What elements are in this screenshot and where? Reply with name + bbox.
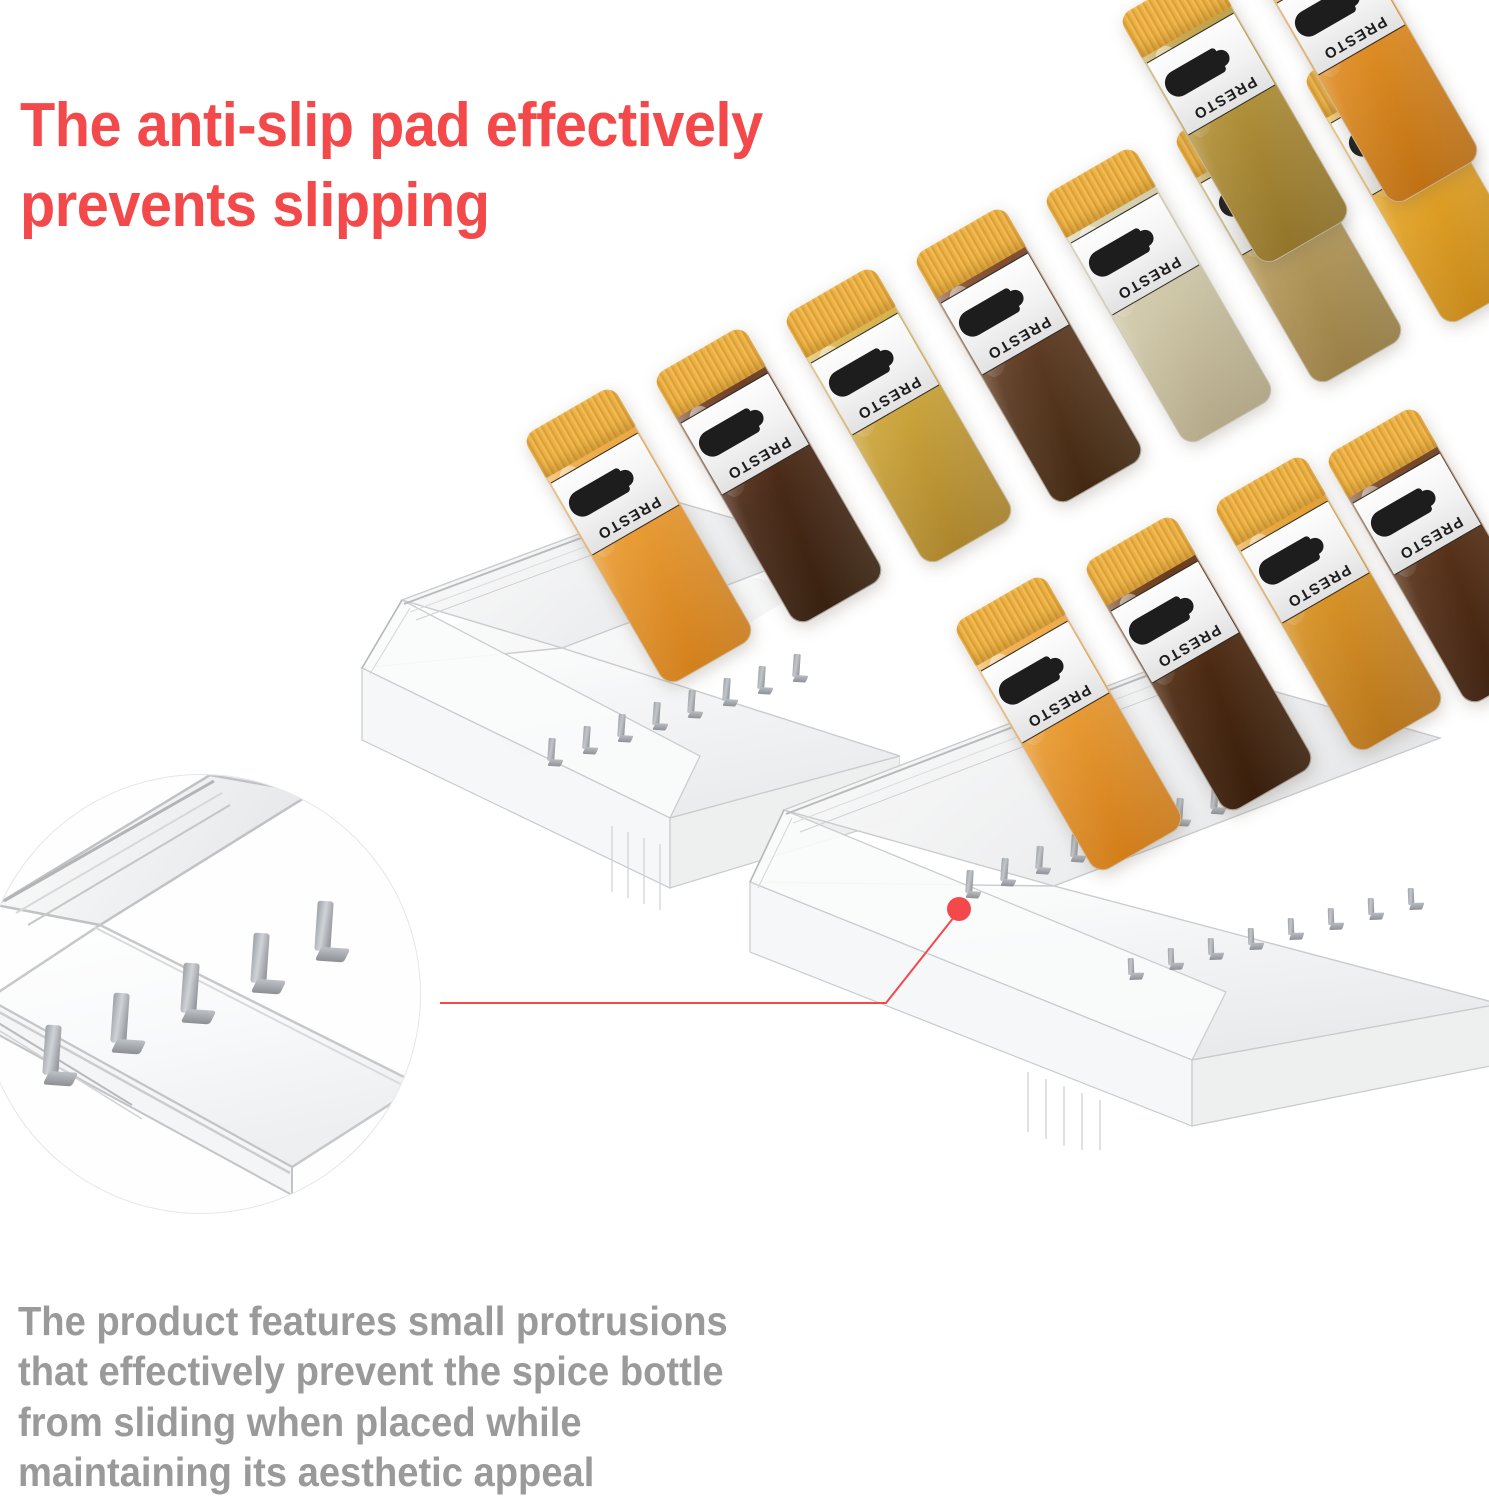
callout-dot [947,897,971,921]
page-caption: The product features small protrusions t… [18,1296,855,1498]
callout-leader-line [440,912,958,1003]
product-marketing-image: PRESTO PRESTO PRESTO [0,0,1489,1500]
page-headline: The anti-slip pad effectively prevents s… [20,86,969,246]
